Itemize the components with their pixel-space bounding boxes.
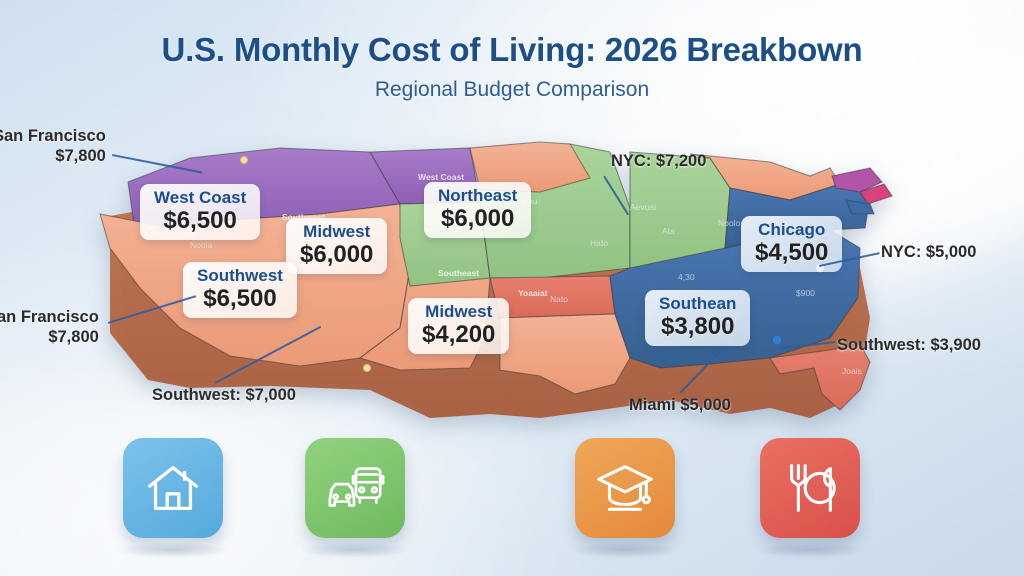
annotation-nyc-right: NYC: $5,000 bbox=[881, 243, 976, 262]
callout-value: $6,500 bbox=[197, 286, 283, 311]
callout-value: $4,500 bbox=[755, 240, 828, 265]
label-yoaaiat: Yoaaiat bbox=[518, 288, 548, 298]
annotation-value: $7,800 bbox=[0, 146, 106, 166]
callout-value: $4,200 bbox=[422, 322, 495, 347]
tile-transportation[interactable] bbox=[305, 438, 405, 538]
callout-name: Southwest bbox=[197, 267, 283, 285]
tile-shadow-housing bbox=[118, 542, 228, 558]
callout-value: $6,000 bbox=[438, 206, 517, 231]
callout-name: Midwest bbox=[300, 223, 373, 241]
callout-southean[interactable]: Southean $3,800 bbox=[645, 290, 750, 346]
callout-name: Midwest bbox=[422, 303, 495, 321]
tile-shadow-education bbox=[570, 542, 680, 558]
annotation-nyc-top: NYC: $7,200 bbox=[611, 152, 706, 171]
callout-value: $3,800 bbox=[659, 314, 736, 339]
annotation-label: San Francisco bbox=[0, 127, 106, 145]
city-dot-seattle bbox=[240, 156, 247, 163]
label-hato: Hato bbox=[590, 238, 608, 248]
annotation-southwest-right: Southwest: $3,900 bbox=[837, 336, 981, 355]
callout-midwest-6000[interactable]: Midwest $6,000 bbox=[286, 218, 387, 274]
tile-housing[interactable] bbox=[123, 438, 223, 538]
annotation-value: $7,800 bbox=[0, 327, 99, 347]
page-title: U.S. Monthly Cost of Living: 2026 Breakb… bbox=[0, 31, 1024, 69]
annotation-southwest-bottom: Southwest: $7,000 bbox=[152, 386, 296, 405]
label-430: 4,30 bbox=[678, 272, 695, 282]
callout-midwest-4200[interactable]: Midwest $4,200 bbox=[408, 298, 509, 354]
callout-name: Northeast bbox=[438, 187, 517, 205]
page-subtitle: Regional Budget Comparison bbox=[0, 78, 1024, 102]
label-nato: Nato bbox=[550, 294, 568, 304]
house-icon bbox=[142, 457, 204, 519]
label-aevuai: Aevuai bbox=[630, 202, 656, 212]
callout-northeast[interactable]: Northeast $6,000 bbox=[424, 182, 531, 238]
callout-southwest[interactable]: Southwest $6,500 bbox=[183, 262, 297, 318]
callout-west-coast[interactable]: West Coast $6,500 bbox=[140, 184, 260, 240]
label-900: $900 bbox=[796, 288, 815, 298]
label-ata: Ata bbox=[662, 226, 675, 236]
annotation-miami-bottom: Miami $5,000 bbox=[629, 396, 731, 415]
callout-value: $6,000 bbox=[300, 242, 373, 267]
tile-dining[interactable] bbox=[760, 438, 860, 538]
annotation-label: San Francisco bbox=[0, 308, 99, 326]
callout-name: West Coast bbox=[154, 189, 246, 207]
callout-name: Southean bbox=[659, 295, 736, 313]
tile-shadow-transportation bbox=[300, 542, 410, 558]
car-bus-icon bbox=[324, 457, 386, 519]
tile-education[interactable] bbox=[575, 438, 675, 538]
category-tiles bbox=[0, 428, 1024, 558]
callout-value: $6,500 bbox=[154, 208, 246, 233]
label-nooia: Nooia bbox=[190, 240, 212, 250]
callout-name: Chicago bbox=[755, 221, 828, 239]
annotation-san-francisco-top: San Francisco $7,800 bbox=[0, 126, 106, 166]
city-dot-miami bbox=[773, 336, 781, 344]
label-joais: Joais bbox=[842, 366, 862, 376]
fork-plate-icon bbox=[779, 457, 841, 519]
label-west-coast: West Coast bbox=[418, 172, 464, 182]
graduation-cap-icon bbox=[594, 457, 656, 519]
label-southeast: Southeast bbox=[438, 268, 479, 278]
tile-shadow-dining bbox=[755, 542, 865, 558]
annotation-san-francisco-mid: San Francisco $7,800 bbox=[0, 307, 99, 347]
label-noolo: Noolo bbox=[718, 218, 740, 228]
city-dot-phoenix bbox=[363, 364, 370, 371]
